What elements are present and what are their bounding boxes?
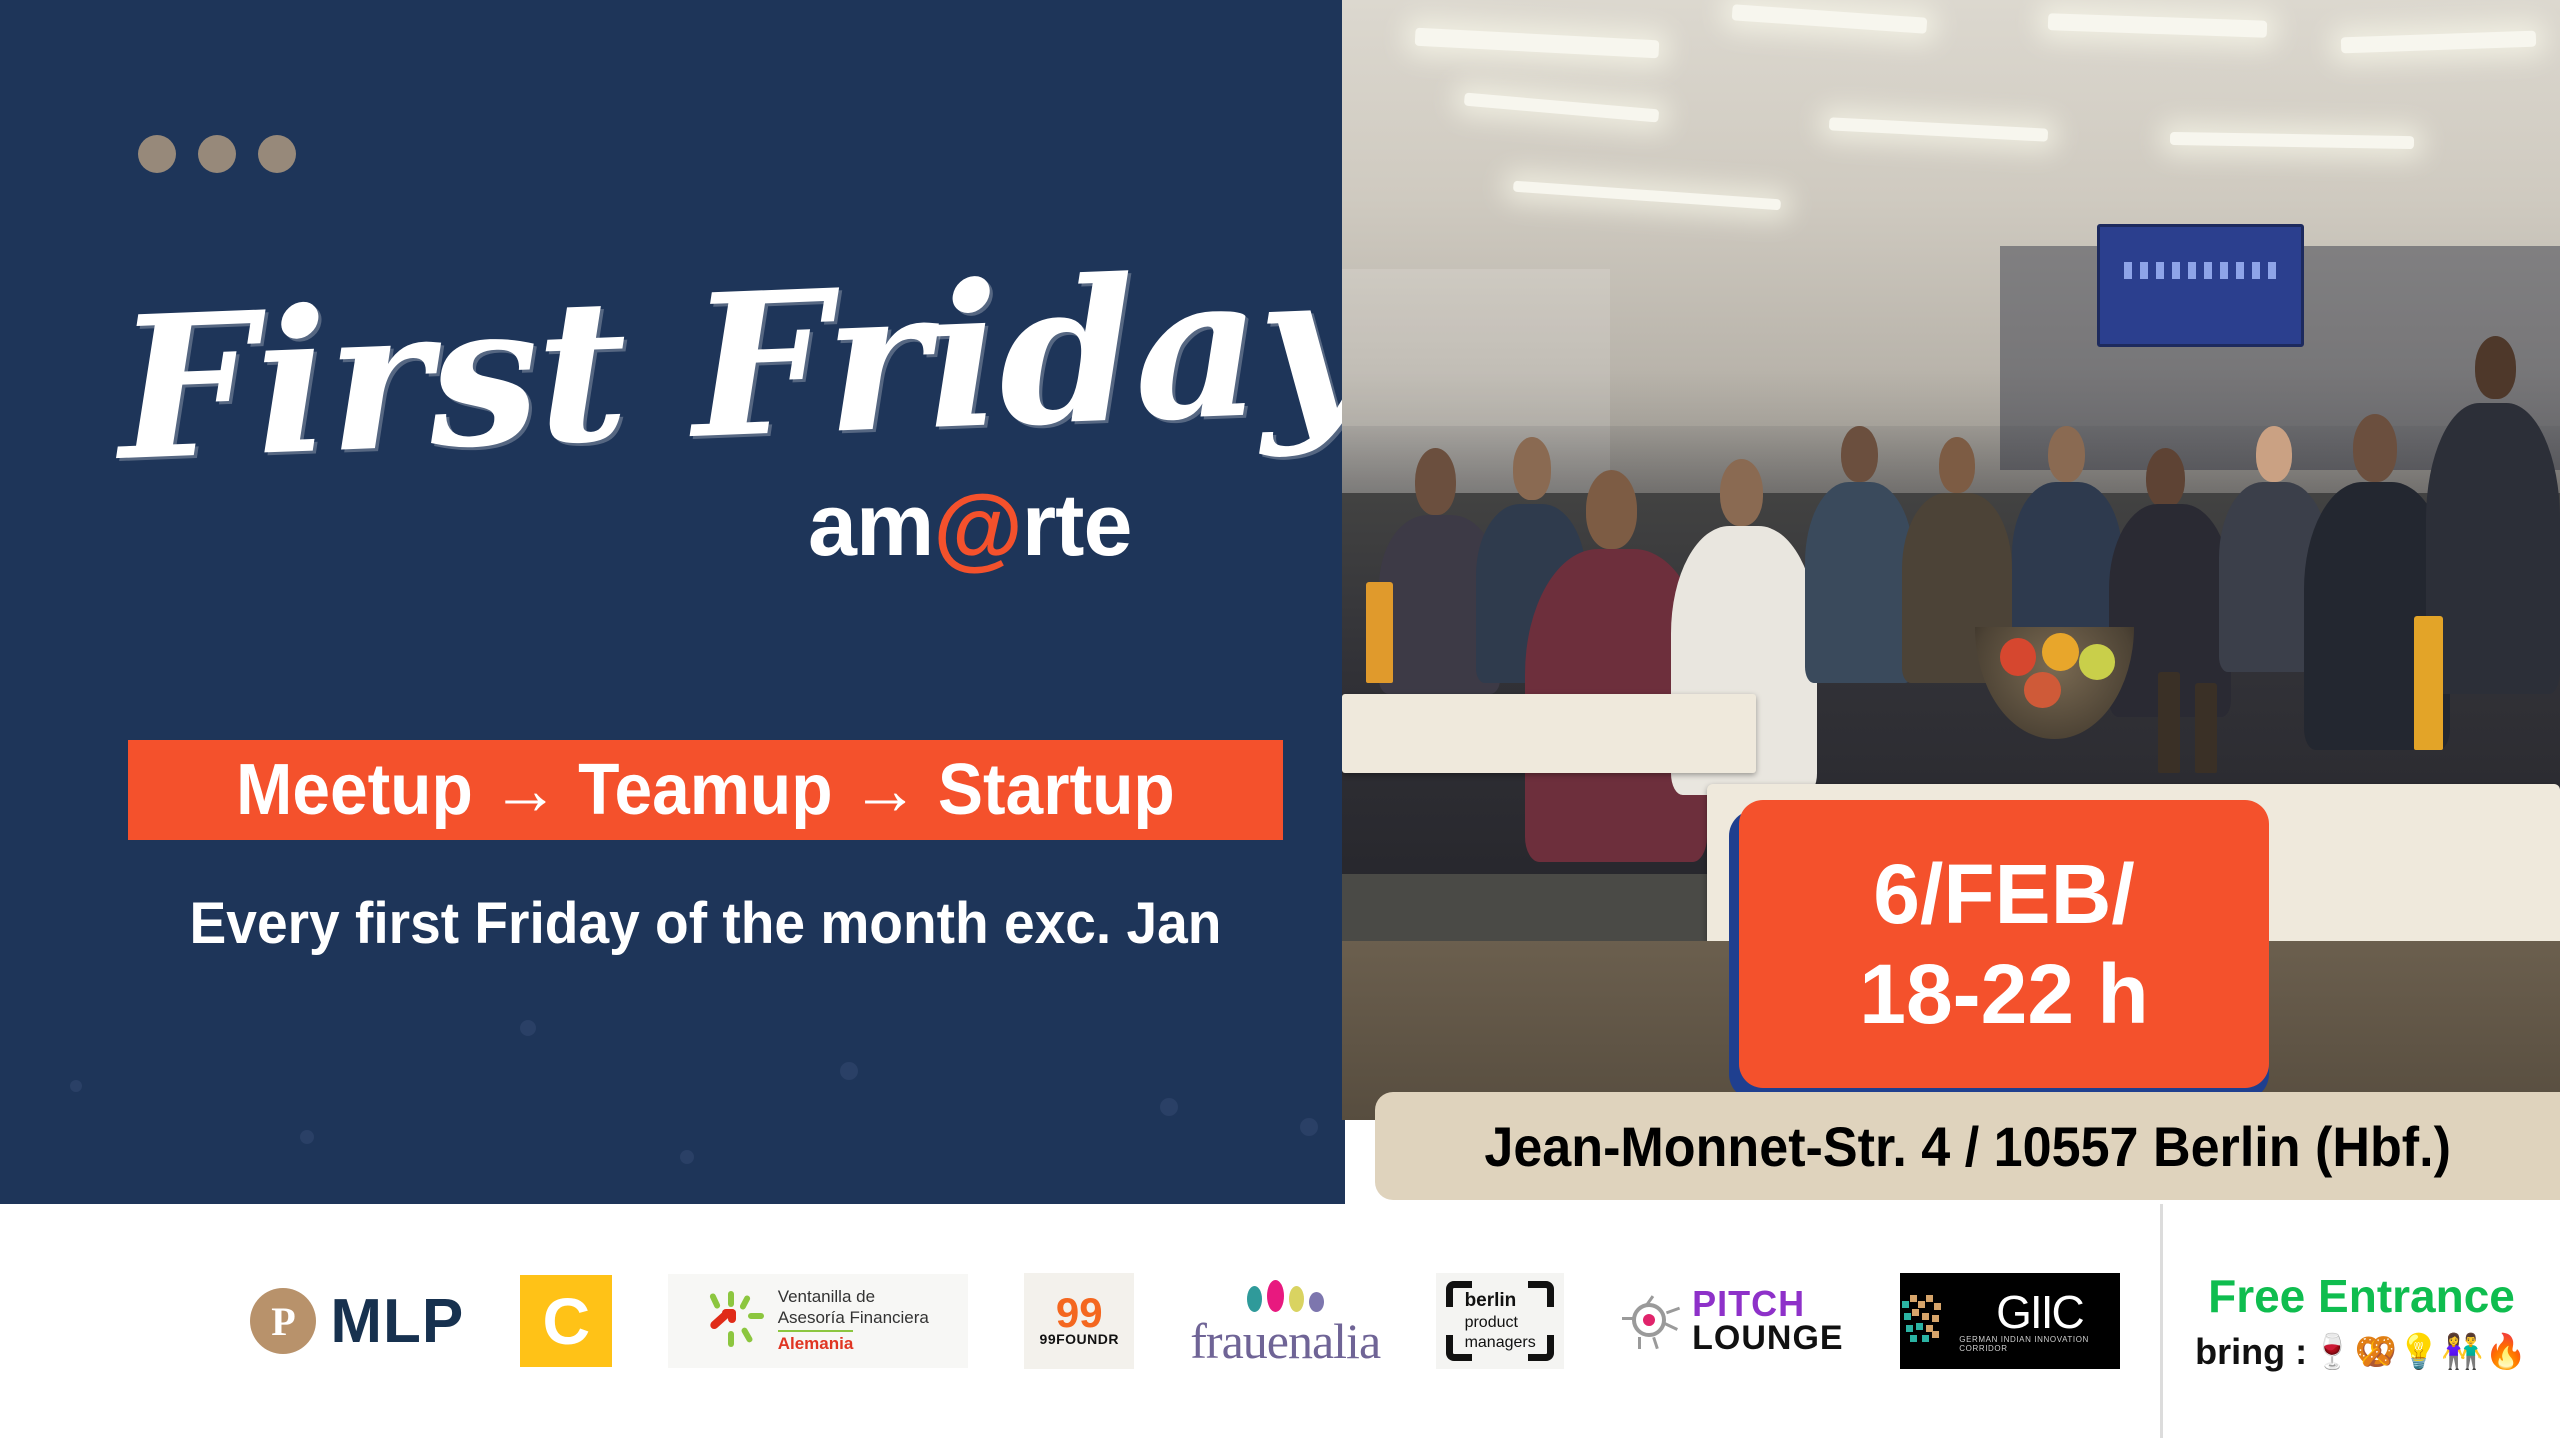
- logo-subtext: am @ rte: [808, 472, 1131, 577]
- pitch-line1: PITCH: [1692, 1287, 1843, 1322]
- bracket-frame-icon: [1528, 1335, 1554, 1361]
- bpm-line3: managers: [1465, 1334, 1536, 1351]
- sponsor-logo-giic[interactable]: GIIC GERMAN INDIAN INNOVATION CORRIDOR: [1900, 1273, 2120, 1369]
- address-text: Jean-Monnet-Str. 4 / 10557 Berlin (Hbf.): [1484, 1114, 2451, 1179]
- photo-person: [1720, 459, 1764, 526]
- ventanilla-line3: Alemania: [778, 1330, 854, 1355]
- bpm-line1: berlin: [1465, 1290, 1517, 1311]
- sponsor-name-99foundr: 99FOUNDR: [1040, 1331, 1119, 1347]
- photo-person: [2353, 414, 2397, 481]
- photo-bottle: [2158, 672, 2180, 773]
- photo-person: [2475, 336, 2516, 399]
- ventanilla-burst-icon: [708, 1293, 764, 1349]
- bpm-text: berlin product managers: [1465, 1289, 1536, 1353]
- bring-emoji-icons: 🍷🥨💡👫🔥: [2311, 1332, 2528, 1372]
- photo-person: [2256, 426, 2293, 482]
- recurrence-subline: Every first Friday of the month exc. Jan: [157, 890, 1254, 957]
- event-poster: First Friday am @ rte Meetup → Teamup → …: [0, 0, 2560, 1438]
- photo-person: [1805, 482, 1915, 684]
- brand-logo: First Friday am @ rte: [118, 300, 1298, 480]
- pitch-line2: LOUNGE: [1692, 1322, 1843, 1355]
- photo-person: [1939, 437, 1976, 493]
- ventanilla-line2: Asesoría Financiera: [778, 1308, 929, 1327]
- mlp-p-icon: P: [250, 1288, 316, 1354]
- photo-person: [2048, 426, 2085, 482]
- logo-sub-rte: rte: [1022, 474, 1132, 576]
- giic-text: GIIC GERMAN INDIAN INNOVATION CORRIDOR: [1959, 1289, 2119, 1353]
- giic-pattern-icon: [1900, 1293, 1950, 1349]
- photo-bottle: [2195, 683, 2217, 773]
- logo-sub-am: am: [808, 474, 933, 576]
- address-bar: Jean-Monnet-Str. 4 / 10557 Berlin (Hbf.): [1375, 1092, 2560, 1200]
- photo-fruit: [2042, 633, 2079, 671]
- time-line: 18-22 h: [1859, 947, 2149, 1041]
- yellow-c-icon: C: [542, 1283, 590, 1359]
- tagline-banner: Meetup → Teamup → Startup: [128, 740, 1283, 840]
- photo-person: [2146, 448, 2185, 508]
- at-symbol-icon: @: [933, 476, 1022, 581]
- date-badge: 6/FEB/ 18-22 h: [1739, 800, 2269, 1088]
- photo-person: [1841, 426, 1878, 482]
- photo-person: [1513, 437, 1552, 500]
- bracket-frame-icon: [1446, 1335, 1472, 1361]
- date-line: 6/FEB/: [1873, 847, 2134, 941]
- ventanilla-text: Ventanilla de Asesoría Financiera Aleman…: [778, 1287, 929, 1355]
- sponsor-logo-mlp[interactable]: P MLP: [250, 1286, 464, 1357]
- bring-line: bring : 🍷🥨💡👫🔥: [2195, 1331, 2528, 1373]
- sponsor-strip: P MLP C Ventanilla: [0, 1204, 2560, 1438]
- free-entrance-block: Free Entrance bring : 🍷🥨💡👫🔥: [2160, 1204, 2560, 1438]
- sponsor-name-frauenalia: frauenalia: [1190, 1312, 1380, 1370]
- bpm-line2: product: [1465, 1314, 1518, 1331]
- 99-arrow-icon: 99: [1056, 1295, 1103, 1331]
- tagline-text: Meetup → Teamup → Startup: [236, 749, 1175, 831]
- giic-tagline: GERMAN INDIAN INNOVATION CORRIDOR: [1959, 1335, 2119, 1353]
- sponsor-logo-c[interactable]: C: [520, 1275, 612, 1367]
- logo-script-text: First Friday: [115, 255, 1301, 480]
- photo-presentation-screen: [2097, 224, 2304, 347]
- photo-person: [1415, 448, 1456, 515]
- sponsor-name-giic: GIIC: [1996, 1289, 2083, 1335]
- photo-bottle: [1366, 582, 1393, 683]
- three-dots-decoration: [138, 135, 296, 173]
- pitch-lounge-text: PITCH LOUNGE: [1692, 1287, 1843, 1354]
- bracket-frame-icon: [1446, 1281, 1472, 1307]
- background-dot-pattern: [0, 0, 1345, 1204]
- photo-person: [2426, 403, 2560, 694]
- bring-label: bring :: [2195, 1331, 2307, 1373]
- frauenalia-people-icon: [1247, 1272, 1324, 1312]
- ventanilla-line1: Ventanilla de: [778, 1287, 875, 1306]
- photo-person: [1586, 470, 1637, 548]
- photo-fruit: [2024, 672, 2061, 708]
- left-navy-panel: First Friday am @ rte Meetup → Teamup → …: [0, 0, 1345, 1204]
- photo-table: [1342, 694, 1756, 772]
- sponsor-logo-pitch-lounge[interactable]: PITCH LOUNGE: [1620, 1287, 1843, 1354]
- sponsor-logo-frauenalia[interactable]: frauenalia: [1190, 1272, 1380, 1370]
- sponsor-name-mlp: MLP: [330, 1286, 464, 1357]
- sponsor-logo-berlin-product-managers[interactable]: berlin product managers: [1436, 1273, 1564, 1369]
- sponsor-logo-ventanilla[interactable]: Ventanilla de Asesoría Financiera Aleman…: [668, 1274, 968, 1368]
- dot-1: [138, 135, 176, 173]
- pitch-target-icon: [1620, 1293, 1682, 1349]
- sponsor-logo-99foundr[interactable]: 99 99FOUNDR: [1024, 1273, 1134, 1369]
- photo-fruit: [2079, 644, 2116, 680]
- photo-bottle: [2414, 616, 2443, 750]
- dot-2: [198, 135, 236, 173]
- sponsor-logos: P MLP C Ventanilla: [0, 1204, 2160, 1438]
- dot-3: [258, 135, 296, 173]
- bracket-frame-icon: [1528, 1281, 1554, 1307]
- free-entrance-label: Free Entrance: [2208, 1269, 2515, 1323]
